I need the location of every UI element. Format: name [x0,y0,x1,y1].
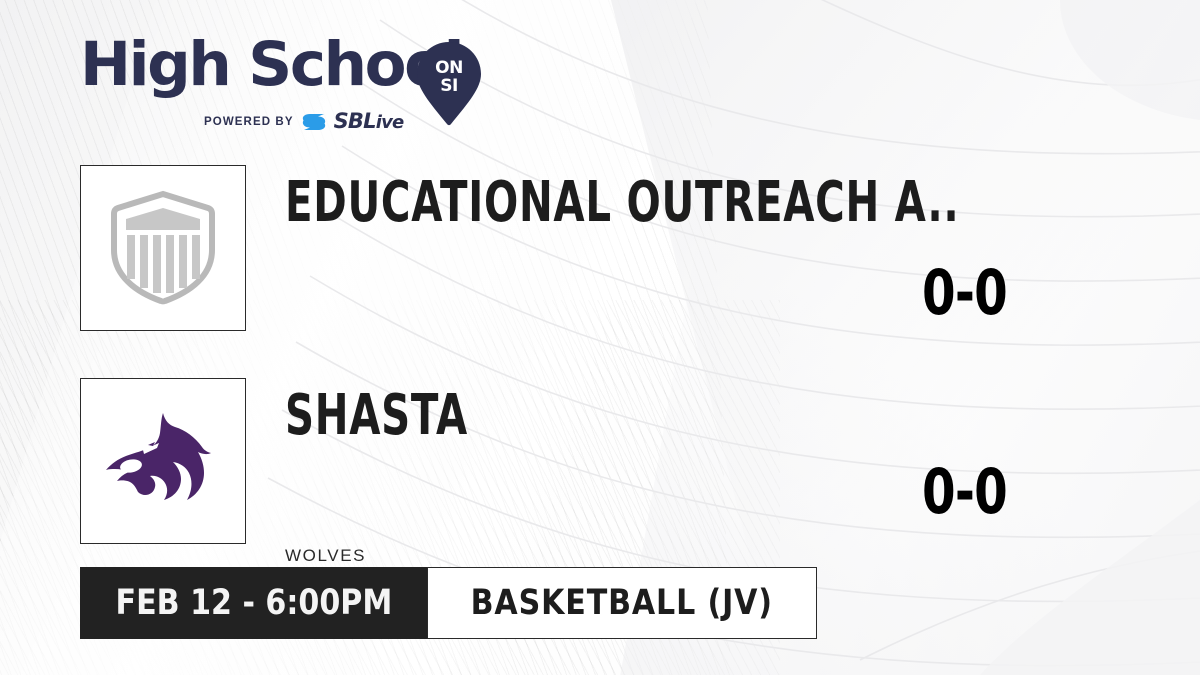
sblive-bolt-icon [301,112,327,132]
game-datetime-label: FEB 12 - 6:00PM [115,586,392,621]
brand-lockup: High School ON SI POWERED BY SBLive [80,34,510,142]
generic-shield-logo-icon [108,188,218,308]
brand-wordmark: High School [80,34,462,95]
team-logo-box [80,378,246,544]
scoreboard-graphic: High School ON SI POWERED BY SBLive [0,0,1200,675]
game-info-bar: FEB 12 - 6:00PM BASKETBALL (JV) [80,567,817,639]
partner-wordmark-main: SBL [334,109,376,133]
location-pin-icon: ON SI [417,40,491,126]
game-sport-panel: BASKETBALL (JV) [427,567,817,639]
team-score: 0-0 [922,262,1007,324]
pin-label-on: ON [417,60,481,77]
powered-by-label: POWERED BY [204,116,294,128]
partner-wordmark: SBLive [334,111,404,132]
team-name: SHASTA [285,388,468,444]
powered-by-lockup: POWERED BY SBLive [204,111,403,132]
wolf-head-logo-icon [103,409,223,513]
team-mascot-label: WOLVES [285,546,366,566]
team-logo-box [80,165,246,331]
game-sport-label: BASKETBALL (JV) [471,586,773,621]
game-datetime-panel: FEB 12 - 6:00PM [80,567,427,639]
team-name: EDUCATIONAL OUTREACH A.. [285,175,959,231]
pin-label-si: SI [417,78,481,95]
team-score: 0-0 [922,461,1007,523]
partner-wordmark-suffix: ive [376,112,404,133]
